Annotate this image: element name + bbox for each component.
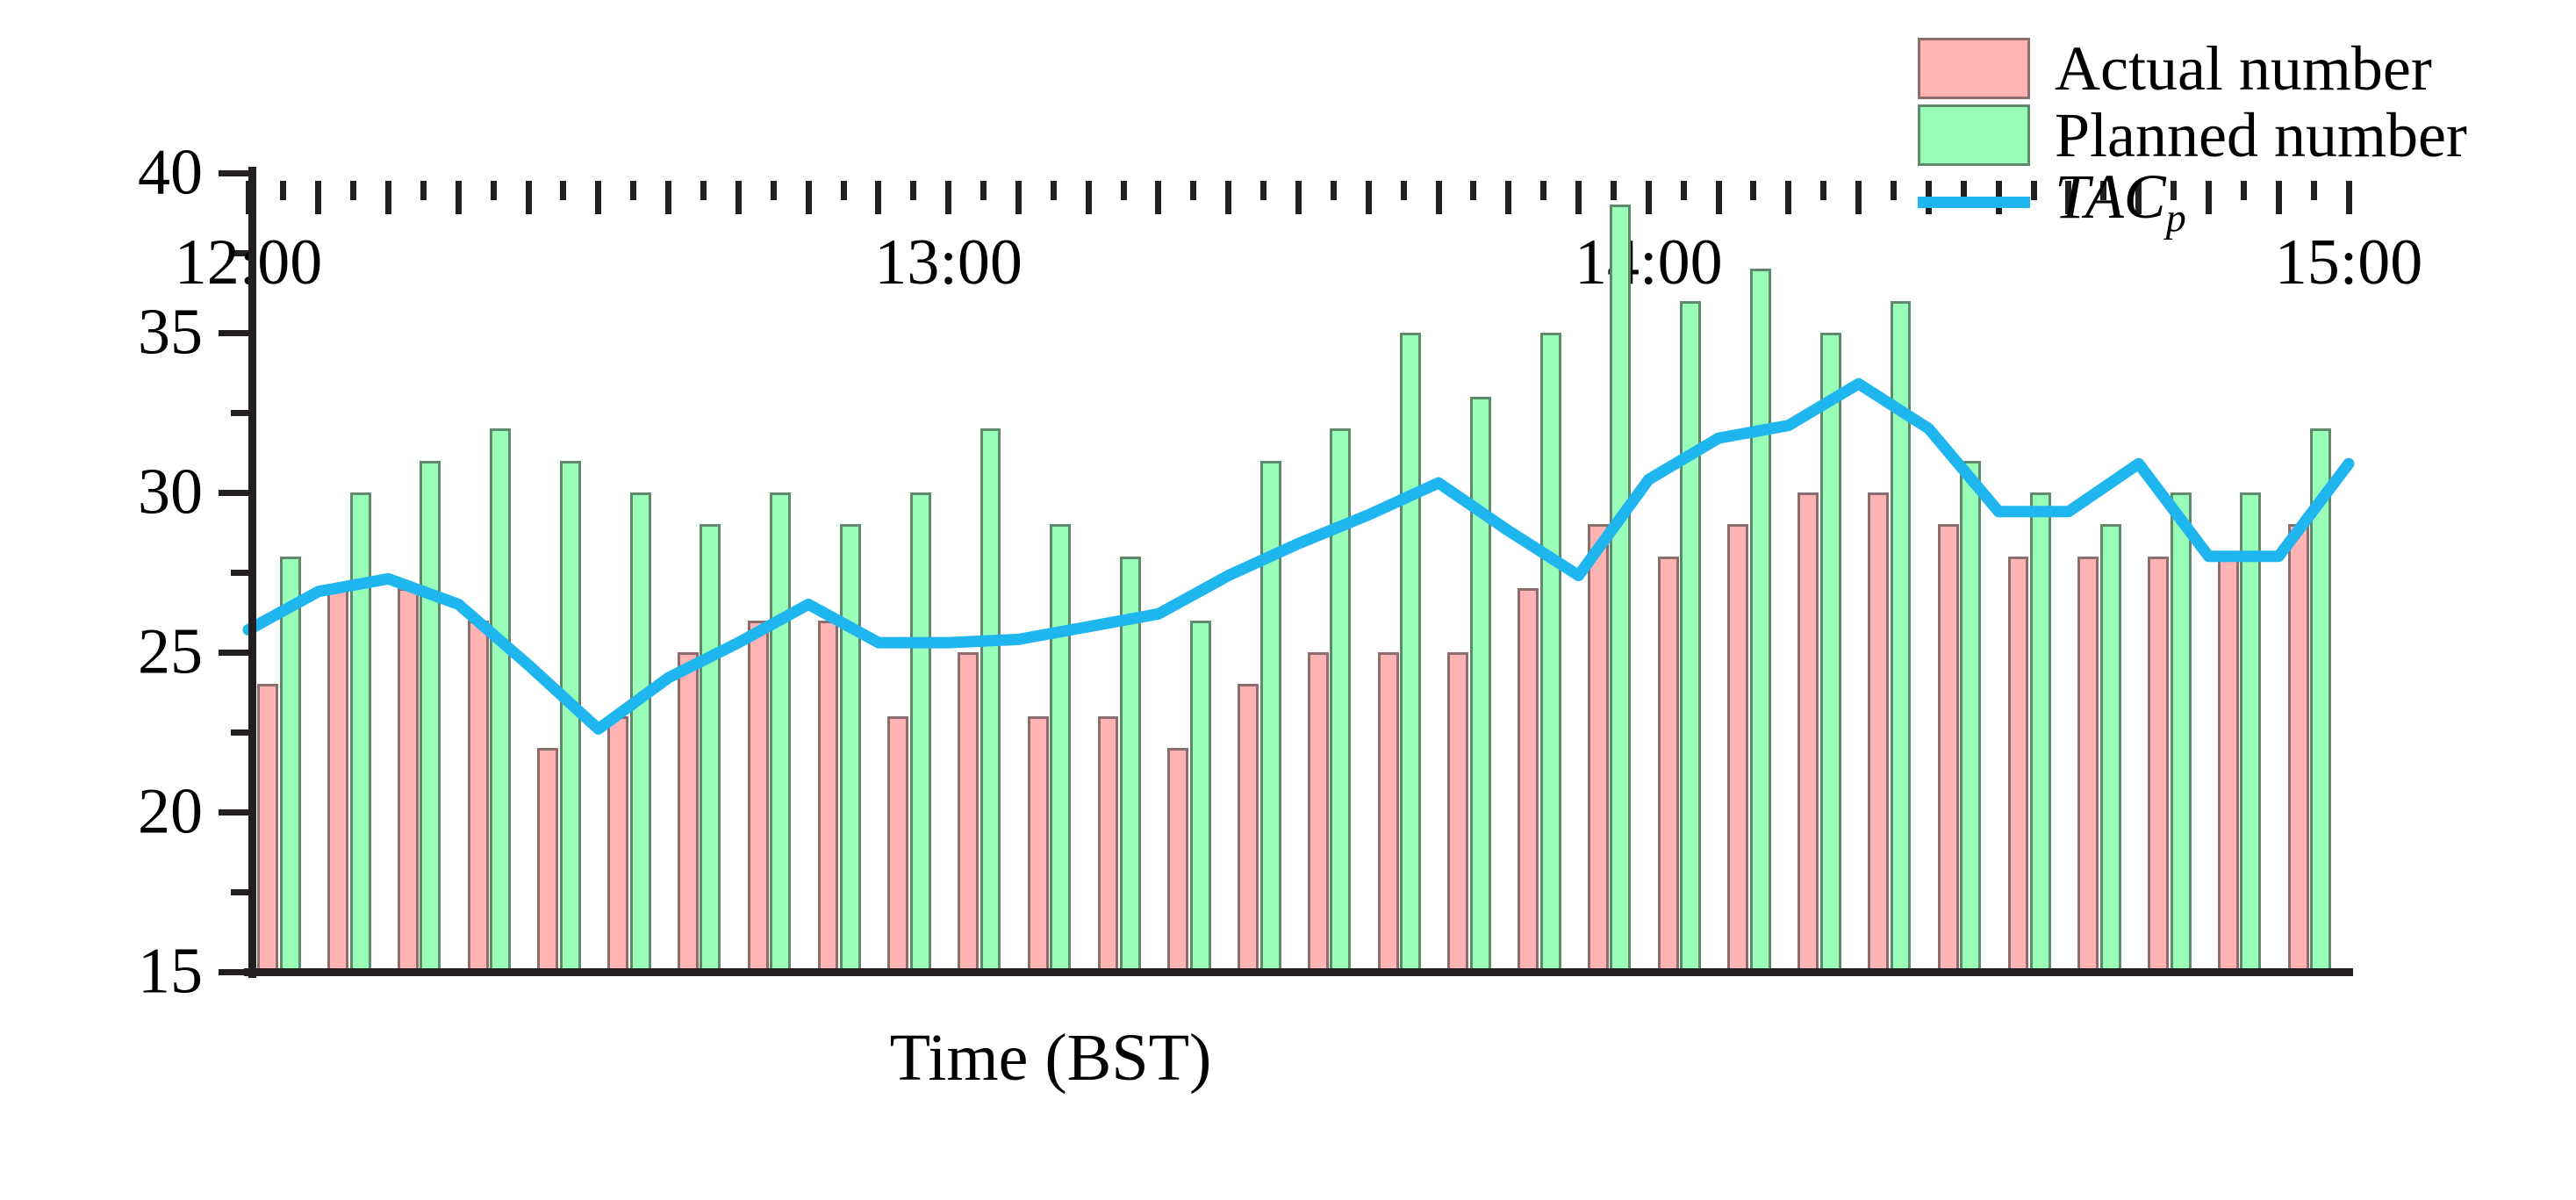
legend-label-tacp-base: TAC <box>2055 162 2166 232</box>
x-axis-line <box>244 968 2353 976</box>
y-tick-label: 40 <box>138 136 203 211</box>
y-tick-major <box>219 170 248 176</box>
y-tick-minor <box>231 570 248 576</box>
legend-item-planned: Planned number <box>1918 102 2558 169</box>
y-tick-label: 20 <box>138 775 203 850</box>
legend-swatch-planned-icon <box>1918 104 2030 166</box>
y-tick-major <box>219 330 248 336</box>
legend-item-tacp: TACp <box>1918 169 2558 235</box>
plot-area: 152025303540 12:0013:0014:0015:00 <box>248 173 2349 972</box>
y-tick-label: 30 <box>138 456 203 530</box>
tac-p-line-series <box>248 173 2349 972</box>
y-tick-major <box>219 490 248 496</box>
y-tick-label: 25 <box>138 615 203 690</box>
y-tick-minor <box>231 729 248 736</box>
x-axis-title: Time (BST) <box>890 1020 1212 1096</box>
legend-label-tacp: TACp <box>2055 165 2186 238</box>
y-tick-label: 15 <box>138 935 203 1010</box>
y-tick-major <box>219 650 248 656</box>
legend-label-tacp-subscript: p <box>2166 196 2186 241</box>
y-tick-major <box>219 809 248 816</box>
y-tick-minor <box>231 410 248 416</box>
legend-item-actual: Actual number <box>1918 35 2558 102</box>
y-tick-label: 35 <box>138 296 203 370</box>
legend-label-actual: Actual number <box>2055 37 2432 100</box>
legend: Actual number Planned number TACp <box>1918 35 2558 235</box>
legend-line-tacp-icon <box>1918 197 2030 208</box>
legend-swatch-actual-icon <box>1918 38 2030 99</box>
y-axis-line <box>248 167 256 978</box>
legend-label-planned: Planned number <box>2055 104 2467 167</box>
chart-figure: 152025303540 12:0013:0014:0015:00 Flight… <box>0 0 2576 1200</box>
y-tick-minor <box>231 889 248 895</box>
